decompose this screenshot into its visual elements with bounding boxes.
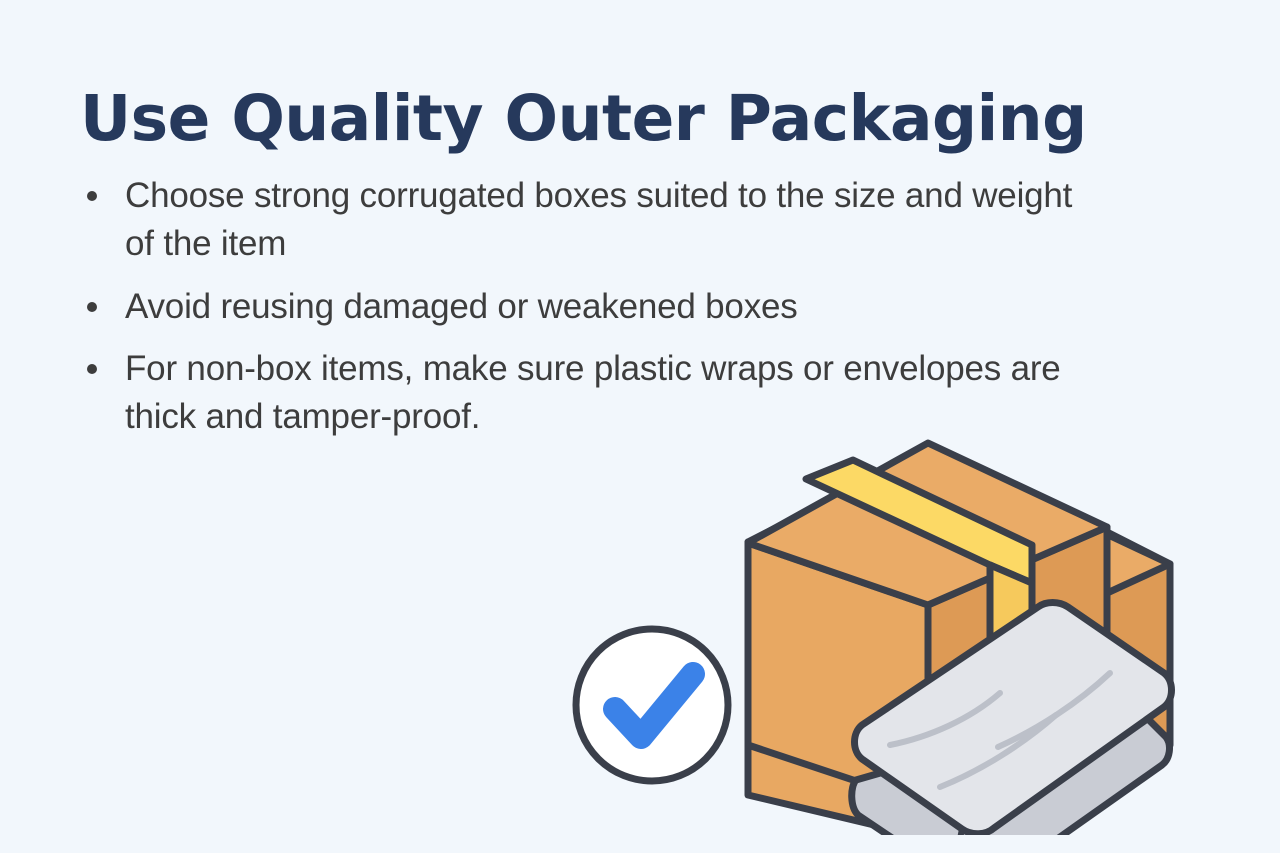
list-item-text: Choose strong corrugated boxes suited to… [125,176,1072,263]
page-title: Use Quality Outer Packaging [80,86,1200,152]
list-item: Choose strong corrugated boxes suited to… [80,172,1110,269]
list-item: Avoid reusing damaged or weakened boxes [80,283,1110,331]
bullet-dot-icon [87,191,97,201]
bullet-list: Choose strong corrugated boxes suited to… [80,172,1110,455]
infographic-card: Use Quality Outer Packaging Choose stron… [0,0,1280,853]
packaging-illustration [570,415,1270,835]
checkmark-badge-icon [576,629,728,781]
list-item-text: Avoid reusing damaged or weakened boxes [125,287,798,326]
bullet-dot-icon [87,364,97,374]
bullet-dot-icon [87,302,97,312]
